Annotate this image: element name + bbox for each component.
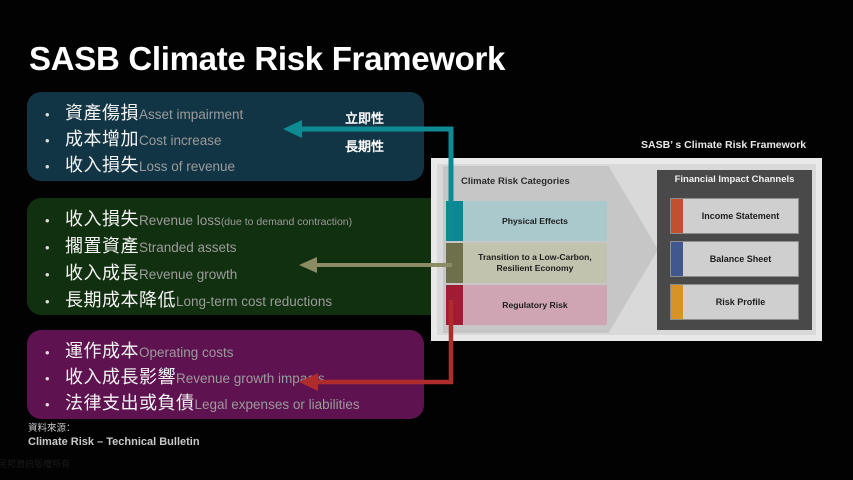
item-zh: 收入成長	[65, 263, 139, 284]
channel-label: Income Statement	[683, 211, 798, 221]
list-item: • 收入成長Revenue growth	[45, 262, 433, 286]
category-label-line2: Resilient Economy	[497, 263, 574, 274]
bullet-icon: •	[45, 132, 65, 149]
source-note: 資料來源： Climate Risk – Technical Bulletin	[28, 420, 200, 448]
item-en: Cost increase	[139, 133, 222, 148]
list-item: • 法律支出或負債Legal expenses or liabilities	[45, 392, 410, 416]
list-item: • 運作成本Operating costs	[45, 340, 410, 364]
source-title: Climate Risk – Technical Bulletin	[28, 436, 200, 448]
category-bar-transition	[446, 243, 463, 283]
item-zh: 擱置資產	[65, 236, 139, 257]
item-en: Long-term cost reductions	[176, 294, 332, 309]
channel-bar-icon	[671, 242, 683, 276]
framework-caption: SASB’ s Climate Risk Framework	[641, 139, 806, 151]
category-row-physical-effects: Physical Effects	[463, 201, 607, 241]
bullet-icon: •	[45, 396, 65, 413]
item-zh: 收入成長影響	[65, 367, 176, 388]
item-en: Revenue growth	[139, 267, 237, 282]
channel-bar-icon	[671, 285, 683, 319]
channel-row-income-statement: Income Statement	[670, 198, 799, 234]
category-label-line1: Transition to a Low-Carbon,	[478, 252, 592, 263]
item-en: Legal expenses or liabilities	[195, 397, 360, 412]
category-label: Regulatory Risk	[502, 300, 567, 311]
item-en: Stranded assets	[139, 240, 237, 255]
list-item: • 收入損失Revenue loss(due to demand contrac…	[45, 208, 433, 232]
regulatory-risk-impacts-box: • 運作成本Operating costs • 收入成長影響Revenue gr…	[27, 330, 424, 419]
channels-heading: Financial Impact Channels	[657, 174, 812, 185]
item-zh: 收入損失	[65, 155, 139, 176]
item-en: Loss of revenue	[139, 159, 235, 174]
bullet-icon: •	[45, 370, 65, 387]
slide: SASB Climate Risk Framework • 資產傷損Asset …	[0, 0, 853, 480]
transition-impacts-box: • 收入損失Revenue loss(due to demand contrac…	[27, 198, 447, 315]
bullet-icon: •	[45, 239, 65, 256]
arrow-label-longterm: 長期性	[345, 136, 384, 155]
bullet-icon: •	[45, 293, 65, 310]
bullet-icon: •	[45, 344, 65, 361]
item-en: Asset impairment	[139, 107, 243, 122]
channel-row-balance-sheet: Balance Sheet	[670, 241, 799, 277]
list-item: • 收入損失Loss of revenue	[45, 154, 410, 178]
category-bar-physical-effects	[446, 201, 463, 241]
category-row-transition: Transition to a Low-Carbon, Resilient Ec…	[463, 243, 607, 283]
source-label: 資料來源：	[28, 420, 200, 434]
bullet-icon: •	[45, 266, 65, 283]
item-note: (due to demand contraction)	[221, 216, 352, 228]
arrow-label-immediate: 立即性	[345, 108, 384, 127]
list-item: • 收入成長影響Revenue growth impacts	[45, 366, 410, 390]
item-en: Revenue loss	[139, 213, 221, 228]
category-bar-regulatory-risk	[446, 285, 463, 325]
item-zh: 資產傷損	[65, 103, 139, 124]
category-label: Physical Effects	[502, 216, 568, 227]
category-row-regulatory-risk: Regulatory Risk	[463, 285, 607, 325]
item-zh: 收入損失	[65, 209, 139, 230]
watermark: 民邦資訊版權所有	[0, 457, 70, 470]
item-en: Operating costs	[139, 345, 234, 360]
channel-label: Risk Profile	[683, 297, 798, 307]
categories-heading: Climate Risk Categories	[461, 176, 570, 187]
channel-label: Balance Sheet	[683, 254, 798, 264]
item-en: Revenue growth impacts	[176, 371, 325, 386]
bullet-icon: •	[45, 158, 65, 175]
page-title: SASB Climate Risk Framework	[29, 40, 505, 78]
channel-row-risk-profile: Risk Profile	[670, 284, 799, 320]
bullet-icon: •	[45, 106, 65, 123]
item-zh: 運作成本	[65, 341, 139, 362]
item-zh: 法律支出或負債	[65, 393, 195, 414]
bullet-icon: •	[45, 212, 65, 229]
channel-bar-icon	[671, 199, 683, 233]
item-zh: 長期成本降低	[65, 290, 176, 311]
list-item: • 擱置資產Stranded assets	[45, 235, 433, 259]
item-zh: 成本增加	[65, 129, 139, 150]
list-item: • 長期成本降低Long-term cost reductions	[45, 289, 433, 313]
